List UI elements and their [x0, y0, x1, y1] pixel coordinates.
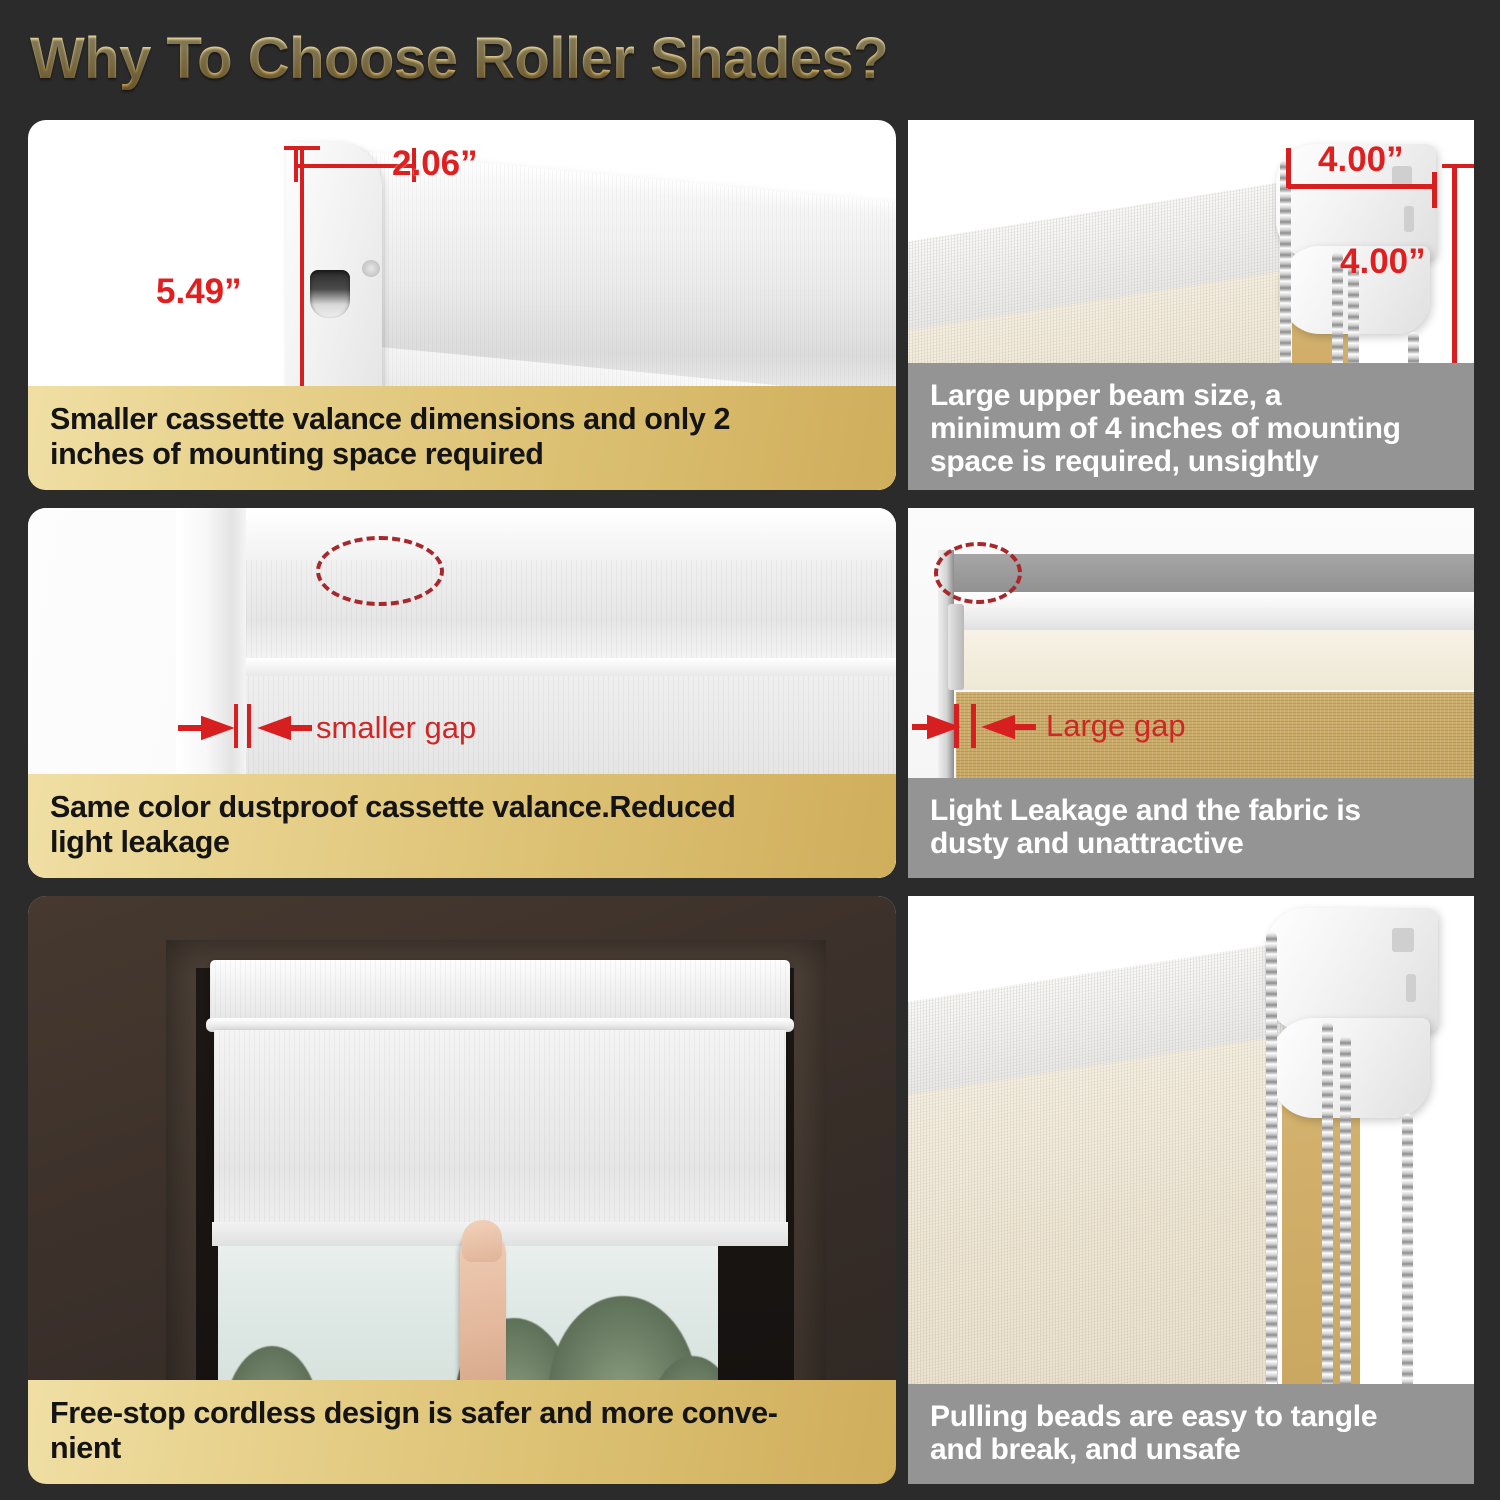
- dim-width-tick-right: [1432, 172, 1437, 208]
- caption-line: nient: [50, 1431, 876, 1466]
- caption-line: Light Leakage and the fabric is: [930, 794, 1454, 827]
- gap-label: smaller gap: [316, 710, 476, 746]
- gap-arrow-left-icon: [912, 712, 972, 742]
- dusty-gray-band: [944, 554, 1474, 596]
- caption-bottom-right: Pulling beads are easy to tangle and bre…: [908, 1384, 1474, 1484]
- caption-line: Large upper beam size, a: [930, 379, 1454, 412]
- shade-fabric: [214, 1030, 786, 1230]
- caption-middle-right: Light Leakage and the fabric is dusty an…: [908, 778, 1474, 878]
- caption-top-right: Large upper beam size, a minimum of 4 in…: [908, 363, 1474, 490]
- caption-line: Free-stop cordless design is safer and m…: [50, 1396, 876, 1431]
- bracket-notch-b: [1404, 206, 1414, 232]
- cream-fabric-band: [952, 630, 1474, 690]
- caption-line: minimum of 4 inches of mounting: [930, 412, 1454, 445]
- caption-line: Same color dustproof cassette valance.Re…: [50, 790, 876, 825]
- panel-top-right: 4.00” 4.00” Large upper beam size, a min…: [908, 120, 1474, 490]
- bracket-notch-a: [1392, 928, 1414, 952]
- caption-line: dusty and unattractive: [930, 827, 1454, 860]
- caption-line: and break, and unsafe: [930, 1433, 1454, 1466]
- gap-highlight-ellipse: [316, 536, 444, 606]
- gap-label: Large gap: [1046, 708, 1186, 744]
- caption-top-left: Smaller cassette valance dimensions and …: [28, 386, 896, 490]
- dim-height-tick-top: [1442, 164, 1474, 168]
- dim-width-tick-left: [294, 148, 298, 182]
- window-frame-top: [204, 508, 896, 560]
- gap-highlight-ellipse: [934, 542, 1022, 604]
- white-rail: [948, 592, 1474, 634]
- bracket-notch-b: [1406, 974, 1416, 1002]
- panel-middle-right: Large gap Light Leakage and the fabric i…: [908, 508, 1474, 878]
- dim-width-line: [1288, 184, 1436, 189]
- caption-line: inches of mounting space required: [50, 437, 876, 472]
- pull-chain-front: [1266, 932, 1277, 1442]
- dim-width-label: 4.00”: [1318, 140, 1404, 180]
- chain-beads: [1266, 932, 1277, 1442]
- caption-line: light leakage: [50, 825, 876, 860]
- chain-beads: [1340, 1036, 1351, 1442]
- dim-height-label: 5.49”: [156, 272, 242, 312]
- pull-chain-middle: [1322, 1022, 1333, 1442]
- bracket-screw-upper: [362, 260, 380, 277]
- panel-top-left: 2.06” 5.49” Smaller cassette valance dim…: [28, 120, 896, 490]
- dim-width-tick-left: [1286, 148, 1291, 188]
- gap-arrow-right-icon: [256, 713, 336, 743]
- gap-arrow-right-icon: [980, 712, 1050, 742]
- pull-chain-rear: [1340, 1036, 1351, 1442]
- page-title: Why To Choose Roller Shades?: [30, 22, 1470, 96]
- caption-bottom-left: Free-stop cordless design is safer and m…: [28, 1380, 896, 1484]
- roller-bracket: [1266, 908, 1438, 1032]
- caption-middle-left: Same color dustproof cassette valance.Re…: [28, 774, 896, 878]
- header: Why To Choose Roller Shades?: [30, 22, 1470, 102]
- chain-beads: [1322, 1022, 1333, 1442]
- shade-mid-rail: [234, 658, 896, 676]
- roller-mechanism: [948, 604, 964, 690]
- shade-headrail: [210, 960, 790, 1022]
- gap-arrow-left-icon: [178, 713, 258, 743]
- dim-width-label: 2.06”: [392, 144, 478, 184]
- caption-line: Pulling beads are easy to tangle: [930, 1400, 1454, 1433]
- caption-line: Smaller cassette valance dimensions and …: [50, 402, 876, 437]
- panel-bottom-left: Free-stop cordless design is safer and m…: [28, 896, 896, 1484]
- dim-height-label: 4.00”: [1340, 242, 1426, 282]
- bracket-slot: [310, 270, 350, 318]
- caption-line: space is required, unsightly: [930, 445, 1454, 478]
- dim-height-line: [1452, 164, 1457, 370]
- panel-middle-left: smaller gap Same color dustproof cassett…: [28, 508, 896, 878]
- comparison-grid: 2.06” 5.49” Smaller cassette valance dim…: [0, 112, 1500, 1492]
- panel-bottom-right: Pulling beads are easy to tangle and bre…: [908, 896, 1474, 1484]
- dim-height-tick-top: [284, 146, 320, 150]
